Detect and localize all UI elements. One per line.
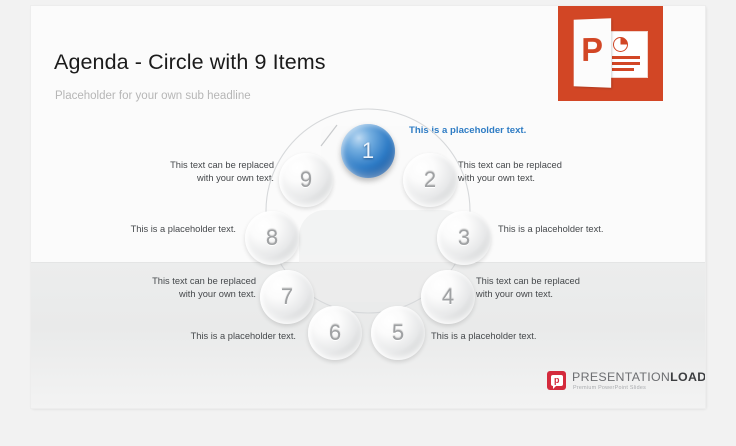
circle-node-3-number: 3	[458, 225, 470, 251]
circle-node-6[interactable]: 6	[308, 306, 362, 360]
screenshot-canvas: Agenda - Circle with 9 Items Placeholder…	[0, 0, 736, 446]
circle-diagram: 1 2 3 4 5 6 7 8 9	[31, 6, 705, 408]
circle-node-3[interactable]: 3	[437, 211, 491, 265]
circle-node-1[interactable]: 1	[341, 124, 395, 178]
circle-node-4-number: 4	[442, 284, 454, 310]
circle-node-2-number: 2	[424, 167, 436, 193]
circle-node-9-number: 9	[300, 167, 312, 193]
circle-node-8-number: 8	[266, 225, 278, 251]
circle-node-7-number: 7	[281, 284, 293, 310]
circle-node-8[interactable]: 8	[245, 211, 299, 265]
circle-node-5[interactable]: 5	[371, 306, 425, 360]
circle-node-5-number: 5	[392, 320, 404, 346]
circle-node-1-number: 1	[362, 138, 374, 164]
circle-node-2[interactable]: 2	[403, 153, 457, 207]
circle-node-7[interactable]: 7	[260, 270, 314, 324]
circle-node-6-number: 6	[329, 320, 341, 346]
connector-ring	[31, 6, 705, 408]
circle-node-4[interactable]: 4	[421, 270, 475, 324]
presentation-slide: Agenda - Circle with 9 Items Placeholder…	[31, 6, 705, 408]
circle-node-9[interactable]: 9	[279, 153, 333, 207]
